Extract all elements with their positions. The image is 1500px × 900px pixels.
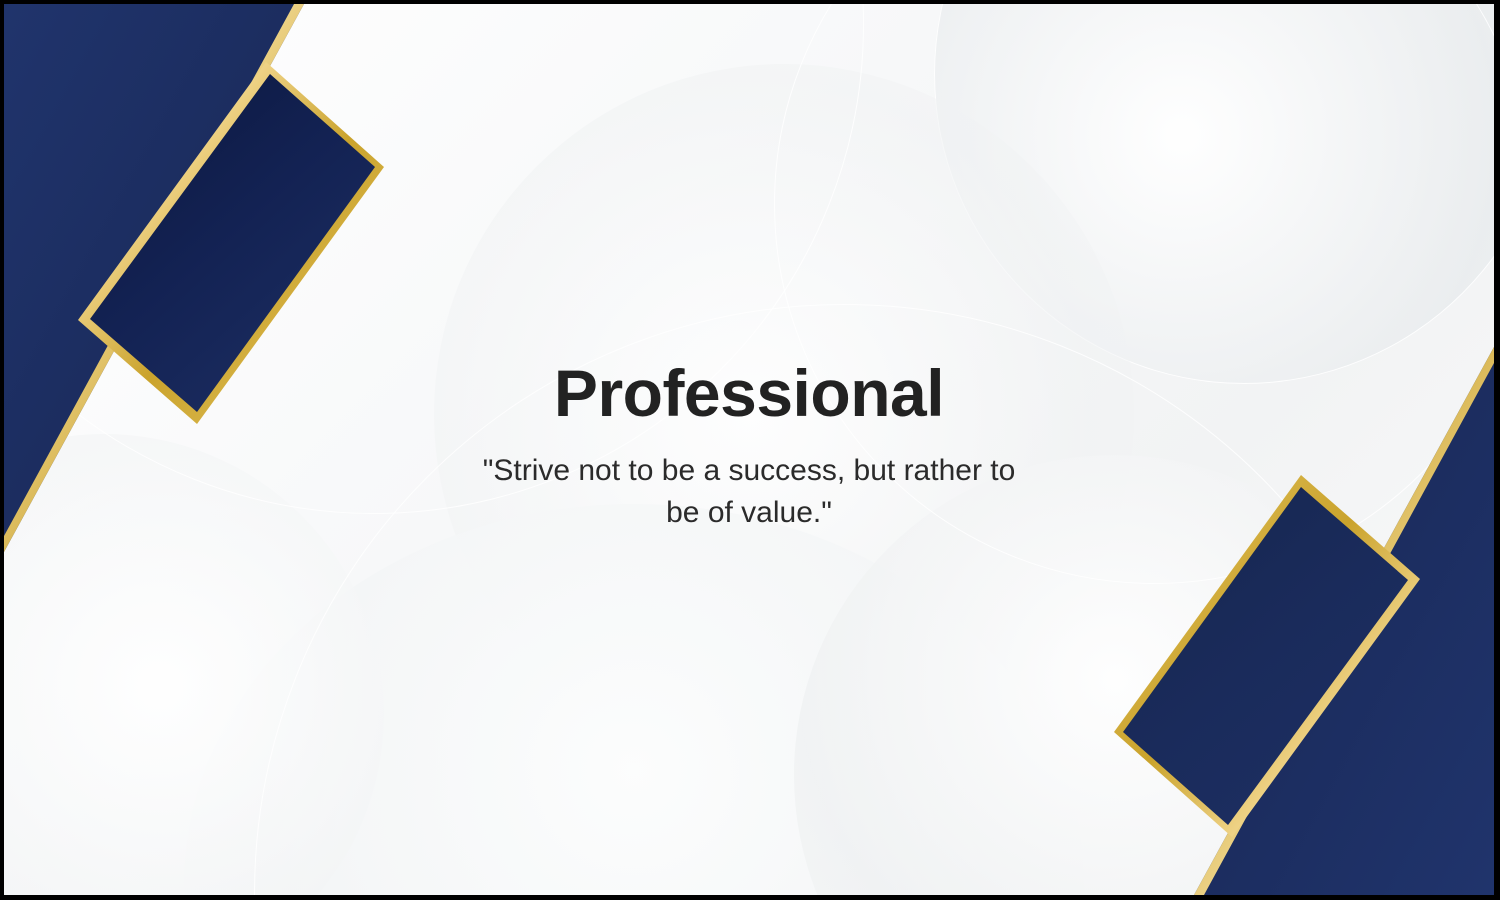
slide-root: Professional "Strive not to be a success… bbox=[0, 0, 1500, 900]
slide-quote: "Strive not to be a success, but rather … bbox=[469, 450, 1029, 533]
slide-title: Professional bbox=[554, 359, 944, 428]
slide-canvas: Professional "Strive not to be a success… bbox=[4, 4, 1494, 895]
slide-content: Professional "Strive not to be a success… bbox=[4, 359, 1494, 533]
